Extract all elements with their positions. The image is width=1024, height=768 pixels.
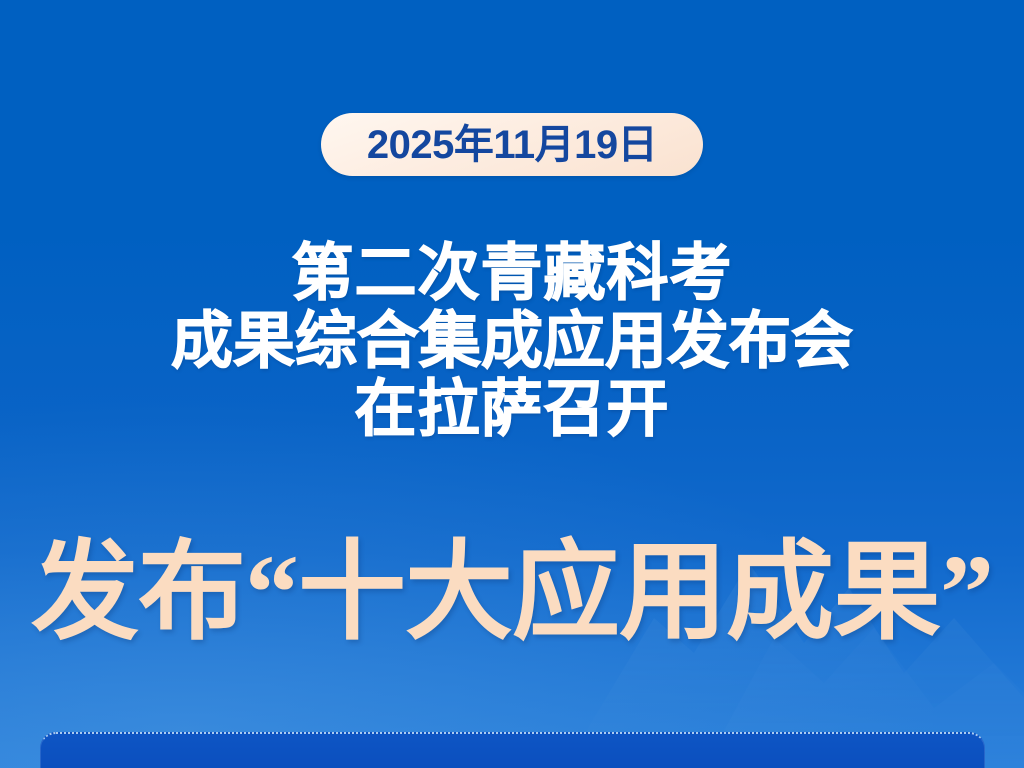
- bottom-panel: [40, 732, 985, 768]
- headline-text: 发布“十大应用成果”: [0, 540, 1024, 648]
- title-line-2: 成果综合集成应用发布会: [0, 308, 1024, 376]
- main-title: 第二次青藏科考 成果综合集成应用发布会 在拉萨召开: [0, 240, 1024, 445]
- date-badge-label: 2025年11月19日: [367, 125, 657, 165]
- title-line-3: 在拉萨召开: [0, 376, 1024, 444]
- title-line-1: 第二次青藏科考: [0, 240, 1024, 308]
- poster-canvas: 2025年11月19日 第二次青藏科考 成果综合集成应用发布会 在拉萨召开 发布…: [0, 0, 1024, 768]
- date-badge-container: 2025年11月19日: [0, 113, 1024, 176]
- date-badge: 2025年11月19日: [321, 113, 703, 176]
